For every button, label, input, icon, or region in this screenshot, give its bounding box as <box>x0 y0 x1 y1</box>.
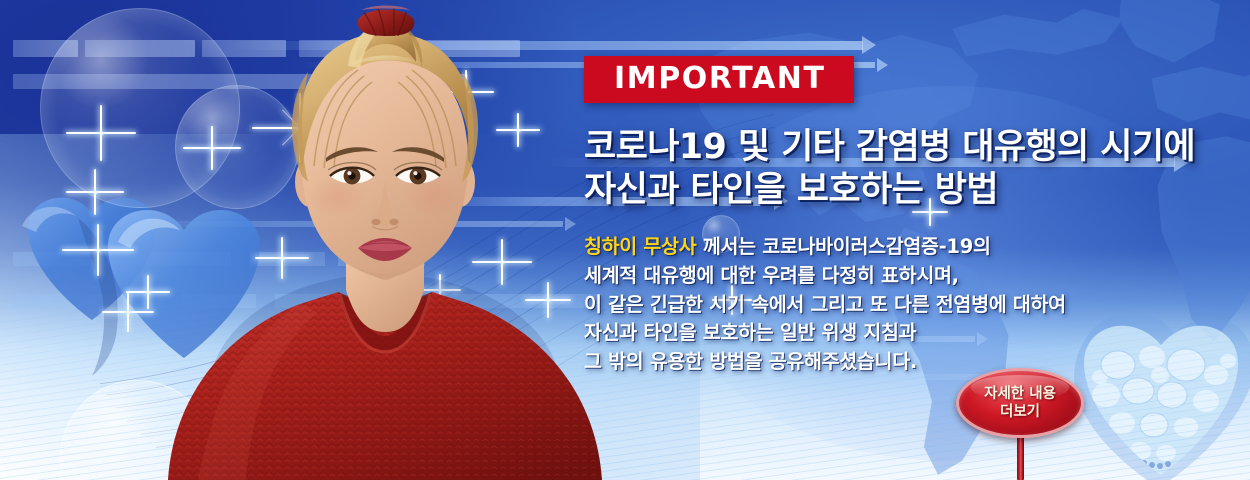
headline: 코로나19 및 기타 감염병 대유행의 시기에 자신과 타인을 보호하는 방법 <box>584 126 1224 211</box>
promo-banner: IMPORTANT 코로나19 및 기타 감염병 대유행의 시기에 자신과 타인… <box>0 0 1250 480</box>
body-line-1-rest: 께서는 코로나바이러스감염증-19의 <box>696 235 990 258</box>
headline-line-1: 코로나19 및 기타 감염병 대유행의 시기에 <box>584 127 1195 167</box>
headline-line-2: 자신과 타인을 보호하는 방법 <box>584 169 1224 212</box>
important-badge: IMPORTANT <box>584 56 854 103</box>
body-line-5: 그 밖의 유용한 방법을 공유해주셨습니다. <box>584 348 1224 377</box>
body-highlight: 칭하이 무상사 <box>584 235 696 258</box>
banner-content: IMPORTANT 코로나19 및 기타 감염병 대유행의 시기에 자신과 타인… <box>584 56 1224 377</box>
body-line-1: 칭하이 무상사 께서는 코로나바이러스감염증-19의 <box>584 233 1224 262</box>
cta-ellipse[interactable]: 자세한 내용 더보기 <box>956 368 1084 438</box>
read-more-button[interactable]: 자세한 내용 더보기 <box>956 368 1084 480</box>
body-line-3: 이 같은 긴급한 시기 속에서 그리고 또 다른 전염병에 대하여 <box>584 291 1224 320</box>
body-line-4: 자신과 타인을 보호하는 일반 위생 지침과 <box>584 319 1224 348</box>
body-paragraph: 칭하이 무상사 께서는 코로나바이러스감염증-19의 세계적 대유행에 대한 우… <box>584 233 1224 376</box>
woman-portrait-image <box>150 0 620 480</box>
cta-label-line-1: 자세한 내용 <box>984 385 1056 403</box>
cta-label-line-2: 더보기 <box>1000 403 1040 421</box>
body-line-2: 세계적 대유행에 대한 우려를 다정히 표하시며, <box>584 262 1224 291</box>
